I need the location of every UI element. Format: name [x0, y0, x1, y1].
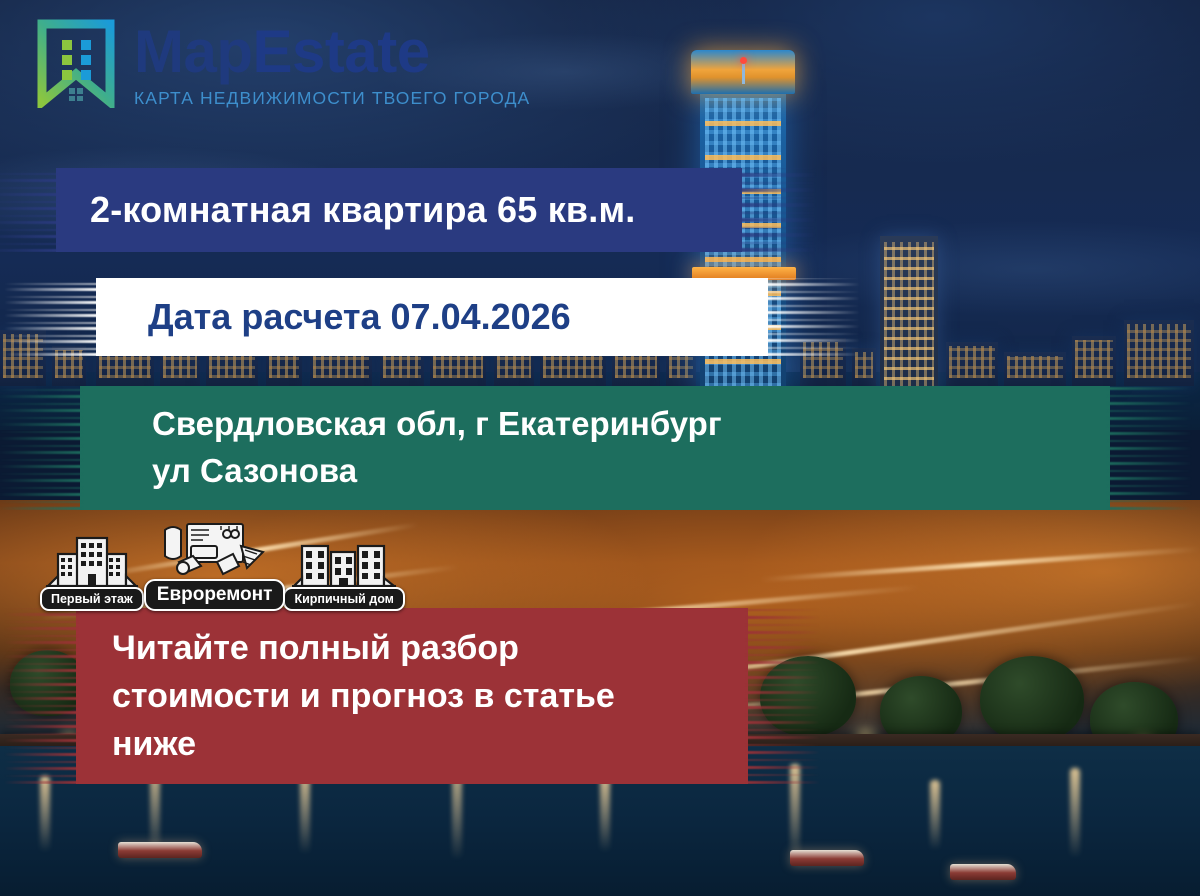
cta-text: Читайте полный разбор стоимости и прогно…	[112, 624, 748, 769]
badge-brick-building-label: Кирпичный дом	[283, 587, 404, 611]
brand-text-block: MapEstate КАРТА НЕДВИЖИМОСТИ ТВОЕГО ГОРО…	[134, 16, 530, 109]
feature-badges: Первый этаж	[40, 518, 405, 611]
badge-renovation: Евроремонт	[144, 518, 286, 611]
brand-name-part2: Estate	[253, 18, 430, 85]
badge-brick-building: Кирпичный дом	[283, 532, 404, 611]
brand-name-part1: Map	[134, 18, 253, 85]
secondary-tower	[880, 236, 938, 396]
calculation-date-text: Дата расчета 07.04.2026	[148, 296, 768, 338]
calculation-date-banner: Дата расчета 07.04.2026	[96, 278, 768, 356]
address-banner: Свердловская обл, г Екатеринбург ул Сазо…	[80, 386, 1110, 510]
badge-first-floor: Первый этаж	[40, 532, 144, 611]
address-text: Свердловская обл, г Екатеринбург ул Сазо…	[152, 401, 1110, 495]
mapestate-logo-icon	[30, 16, 122, 108]
badge-first-floor-label: Первый этаж	[40, 587, 144, 611]
cta-banner: Читайте полный разбор стоимости и прогно…	[76, 608, 748, 784]
rooms-area-text: 2-комнатная квартира 65 кв.м.	[90, 189, 742, 231]
badge-renovation-label: Евроремонт	[144, 579, 286, 611]
brand-name: MapEstate	[134, 22, 530, 82]
tower-mast	[742, 62, 745, 84]
rooms-area-banner: 2-комнатная квартира 65 кв.м.	[56, 168, 742, 252]
listing-poster: MapEstate КАРТА НЕДВИЖИМОСТИ ТВОЕГО ГОРО…	[0, 0, 1200, 896]
brand-tagline: КАРТА НЕДВИЖИМОСТИ ТВОЕГО ГОРОДА	[134, 88, 530, 109]
brand-header: MapEstate КАРТА НЕДВИЖИМОСТИ ТВОЕГО ГОРО…	[30, 16, 530, 109]
